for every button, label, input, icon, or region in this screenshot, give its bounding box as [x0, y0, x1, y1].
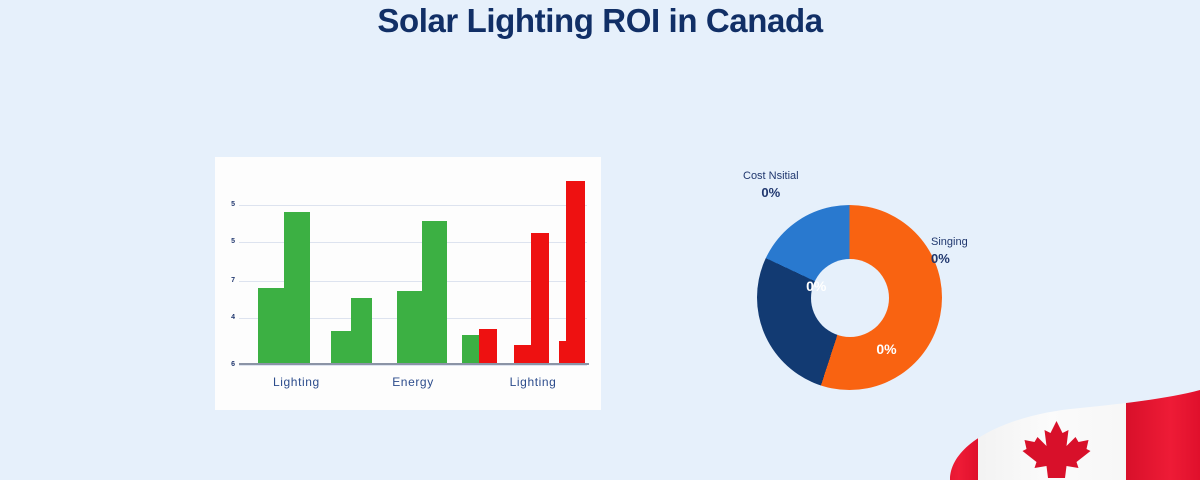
donut-callout-singing-label: Singing: [931, 236, 968, 248]
donut-slice-label-orange: 0%: [876, 341, 896, 357]
gridline: [239, 205, 587, 206]
bar-chart-plot-area: 55746: [239, 175, 587, 365]
bar-green: [284, 212, 310, 364]
bar-green: [331, 331, 351, 364]
bar-chart-axis-line: [239, 363, 589, 365]
gridline: [239, 365, 587, 366]
bar-red: [479, 329, 496, 364]
bar-green: [351, 298, 371, 364]
donut-slice-label-navy: 0%: [806, 278, 826, 294]
x-axis-label: Lighting: [273, 375, 320, 389]
bar-green: [258, 288, 284, 364]
donut-callout-cost-value: 0%: [743, 184, 799, 202]
bar-chart-card: 55746 LightingEnergyLighting: [215, 157, 601, 410]
bar-red: [531, 233, 548, 364]
y-axis-tick-label: 4: [221, 314, 235, 321]
x-axis-label: Energy: [392, 375, 434, 389]
bar-red: [514, 345, 531, 364]
donut-callout-singing-value: 0%: [931, 250, 968, 268]
bar-green: [397, 291, 422, 364]
bar-chart-x-axis: LightingEnergyLighting: [239, 375, 587, 395]
donut-chart-ring: 0% 0%: [757, 205, 942, 390]
bar-green: [462, 335, 479, 364]
bar-red: [566, 181, 585, 364]
donut-callout-cost-label: Cost Nsitial: [743, 170, 799, 182]
y-axis-tick-label: 5: [221, 238, 235, 245]
donut-chart: 0% 0% Cost Nsitial 0% Singing 0%: [735, 165, 1015, 410]
donut-callout-cost: Cost Nsitial 0%: [743, 169, 799, 201]
bar-green: [422, 221, 447, 364]
page-title: Solar Lighting ROI in Canada: [0, 2, 1200, 40]
donut-chart-hole: [811, 259, 889, 337]
y-axis-tick-label: 7: [221, 277, 235, 284]
x-axis-label: Lighting: [510, 375, 557, 389]
donut-callout-singing: Singing 0%: [931, 235, 968, 267]
y-axis-tick-label: 5: [221, 201, 235, 208]
y-axis-tick-label: 6: [221, 361, 235, 368]
